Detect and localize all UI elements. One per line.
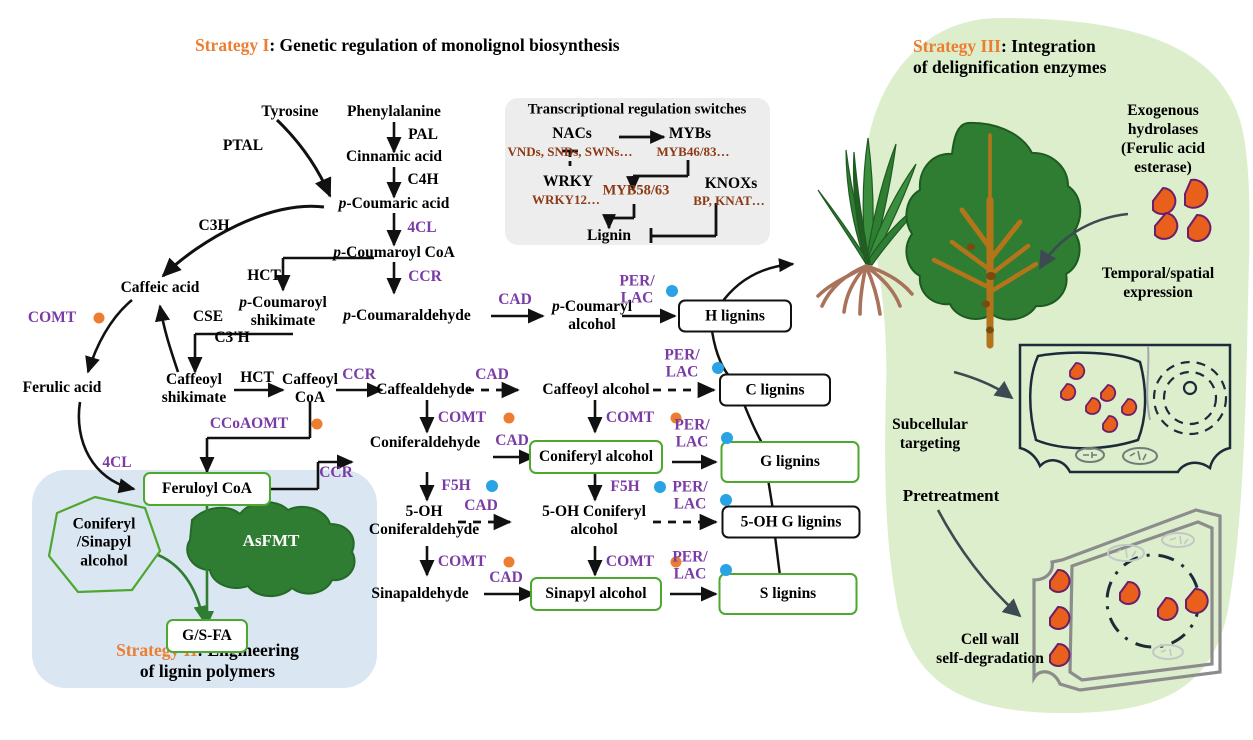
italic-p: p [239, 294, 247, 311]
metabolite-caffeoyl-coa: Caffeoyl CoA [282, 371, 338, 407]
tf-knoxs-members: BP, KNAT… [693, 194, 765, 208]
metabolite-5oh-coniferyl-alcohol-l2: alcohol [542, 521, 646, 539]
enzyme-per-lac-3: PER/ LAC [674, 417, 709, 450]
metabolite-sinapyl-alcohol-box: Sinapyl alcohol [530, 577, 662, 611]
metabolite-p-coumaroyl-shikimate: p-Coumaroyl shikimate [239, 294, 327, 330]
per-lac-3-line2: LAC [674, 434, 709, 451]
lignin-box-s: S lignins [719, 573, 858, 615]
metabolite-p-coumaric-acid-text: -Coumaric acid [346, 195, 449, 212]
metabolite-caffeic-acid: Caffeic acid [121, 280, 200, 296]
metabolite-5oh-coniferyl-alcohol-l1: 5-OH Coniferyl [542, 503, 646, 521]
enzyme-comt-left: COMT [28, 310, 76, 326]
per-lac-4-line2: LAC [672, 496, 707, 513]
per-lac-5-blue-dot [720, 564, 732, 576]
italic-p: p [339, 195, 347, 212]
per-lac-3-blue-dot [721, 432, 733, 444]
metabolite-caffeoyl-shikimate: Caffeoyl shikimate [162, 371, 227, 407]
strategy1-title: Strategy I: Genetic regulation of monoli… [195, 35, 620, 56]
enzyme-c4h: C4H [408, 172, 439, 188]
enzyme-ccoaomt: CCoAOMT [210, 416, 288, 432]
exogenous-l3: (Ferulic acid [1121, 140, 1205, 159]
temporal-l1: Temporal/spatial [1102, 265, 1214, 284]
enzyme-ccr-blue: CCR [319, 465, 353, 481]
enzyme-cad-top: CAD [498, 292, 532, 308]
italic-p: p [333, 244, 341, 261]
strategy3-title-rest: : Integration [1001, 36, 1096, 56]
enzyme-f5h-coniferaldehyde: F5H [441, 478, 470, 494]
pretreatment-label: Pretreatment [903, 487, 1000, 505]
per-lac-3-line1: PER/ [674, 417, 709, 434]
cellwall-l2: self-degradation [936, 650, 1044, 669]
metabolite-5oh-coniferyl-alcohol: 5-OH Coniferyl alcohol [542, 503, 646, 539]
metabolite-p-coumaryl-alcohol-l2: alcohol [552, 316, 632, 334]
enzyme-comt-caffeoylalcohol: COMT [606, 410, 654, 426]
metabolite-caffeoyl-shikimate-l2: shikimate [162, 389, 227, 407]
metabolite-coniferyl-sinapyl-l1: Coniferyl [73, 516, 136, 534]
subcellular-l2: targeting [892, 435, 968, 454]
tf-wrky-members: WRKY12… [532, 193, 600, 207]
metabolite-phenylalanine: Phenylalanine [347, 104, 441, 120]
strategy3-title-line2: of delignification enzymes [913, 57, 1106, 78]
exogenous-l2: hydrolases [1121, 121, 1205, 140]
enzyme-comt-caffealdehyde: COMT [438, 410, 486, 426]
enzyme-cad-coniferaldehyde: CAD [495, 433, 529, 449]
enzyme-hct-mid: HCT [240, 370, 274, 386]
enzyme-cad-sinapaldehyde: CAD [489, 570, 523, 586]
per-lac-1-line1: PER/ [619, 273, 654, 290]
enzyme-per-lac-5: PER/ LAC [672, 549, 707, 582]
tf-nacs-label: NACs [552, 126, 592, 142]
comt-c-orange-dot [504, 557, 515, 568]
strategy2-title-line2: of lignin polymers [65, 661, 350, 682]
enzyme-ptal: PTAL [223, 138, 263, 154]
subcellular-targeting-label: Subcellular targeting [892, 416, 968, 454]
metabolite-p-coumaraldehyde: p-Coumaraldehyde [343, 308, 470, 324]
per-lac-4-blue-dot [720, 494, 732, 506]
italic-p: p [552, 298, 560, 315]
enzyme-f5h-coniferylalcohol: F5H [610, 479, 639, 495]
per-lac-2-blue-dot [712, 362, 724, 374]
italic-p: p [343, 307, 351, 324]
tf-nacs-members: VNDs, SNDs, SWNs… [508, 145, 633, 159]
tf-myb5863-label: MYB58/63 [603, 183, 670, 198]
per-lac-5-line1: PER/ [672, 549, 707, 566]
metabolite-feruloyl-coa-box: Feruloyl CoA [143, 472, 271, 506]
cellwall-l1: Cell wall [936, 631, 1044, 650]
strategy3-title-prefix: Strategy III [913, 36, 1001, 56]
metabolite-5oh-coniferaldehyde-l2: Coniferaldehyde [369, 521, 479, 539]
metabolite-coniferyl-sinapyl-alcohol: Coniferyl /Sinapyl alcohol [73, 516, 136, 571]
metabolite-p-coumaraldehyde-text: -Coumaraldehyde [351, 307, 471, 324]
comt-left-orange-dot [94, 313, 105, 324]
metabolite-coniferyl-sinapyl-l3: alcohol [73, 552, 136, 570]
enzyme-per-lac-1: PER/ LAC [619, 273, 654, 306]
metabolite-caffeoyl-alcohol: Caffeoyl alcohol [542, 382, 649, 398]
metabolite-caffeoyl-coa-l1: Caffeoyl [282, 371, 338, 389]
tf-wrky-label: WRKY [543, 174, 593, 190]
lignin-box-g: G lignins [721, 441, 860, 483]
enzyme-cad-caffealdehyde: CAD [475, 367, 509, 383]
ccoaomt-orange-dot [312, 419, 323, 430]
exogenous-l1: Exogenous [1121, 102, 1205, 121]
metabolite-5oh-coniferaldehyde-l1: 5-OH [369, 503, 479, 521]
per-lac-2-line2: LAC [664, 364, 699, 381]
tf-lignin-label: Lignin [587, 228, 631, 244]
per-lac-5-line2: LAC [672, 566, 707, 583]
metabolite-coniferyl-sinapyl-l2: /Sinapyl [73, 534, 136, 552]
enzyme-comt-5oh-coniferylalcohol: COMT [606, 554, 654, 570]
metabolite-p-coumaric-acid: p-Coumaric acid [339, 196, 450, 212]
enzyme-per-lac-2: PER/ LAC [664, 347, 699, 380]
lignin-box-c: C lignins [719, 374, 831, 407]
metabolite-ferulic-acid: Ferulic acid [23, 380, 102, 396]
exogenous-l4: esterase) [1121, 159, 1205, 178]
strategy1-title-rest: : Genetic regulation of monolignol biosy… [269, 35, 619, 55]
metabolite-coniferyl-alcohol-box: Coniferyl alcohol [529, 440, 663, 474]
transcription-box-title: Transcriptional regulation switches [528, 102, 747, 117]
f5h-a-blue-dot [486, 480, 498, 492]
exogenous-hydrolases-label: Exogenous hydrolases (Ferulic acid ester… [1121, 102, 1205, 178]
lignin-box-h: H lignins [678, 300, 792, 333]
comt-a-orange-dot [504, 413, 515, 424]
tf-mybs-members: MYB46/83… [657, 145, 730, 159]
metabolite-p-coumaroyl-coa: p-Coumaroyl CoA [333, 245, 455, 261]
enzyme-c3ph: C3'H [214, 330, 249, 346]
per-lac-1-blue-dot [666, 285, 678, 297]
enzyme-comt-5oh-coniferaldehyde: COMT [438, 554, 486, 570]
enzyme-4cl-blue: 4CL [102, 455, 131, 471]
enzyme-ccr-top: CCR [408, 269, 442, 285]
metabolite-p-coumaroyl-shikimate-l1: -Coumaroyl [247, 294, 327, 311]
enzyme-cse: CSE [193, 309, 223, 325]
enzyme-pal: PAL [408, 127, 438, 143]
per-lac-2-line1: PER/ [664, 347, 699, 364]
temporal-l2: expression [1102, 284, 1214, 303]
metabolite-gs-fa-box: G/S-FA [166, 619, 248, 653]
metabolite-caffealdehyde: Caffealdehyde [376, 382, 472, 398]
tf-knoxs-label: KNOXs [705, 176, 758, 192]
figure-canvas: Transcriptional regulation switches NACs… [0, 0, 1253, 740]
per-lac-4-line1: PER/ [672, 479, 707, 496]
metabolite-caffeoyl-shikimate-l1: Caffeoyl [162, 371, 227, 389]
metabolite-tyrosine: Tyrosine [261, 104, 318, 120]
enzyme-per-lac-4: PER/ LAC [672, 479, 707, 512]
tf-mybs-label: MYBs [669, 126, 711, 142]
cellwall-self-degradation-label: Cell wall self-degradation [936, 631, 1044, 669]
metabolite-p-coumaroyl-coa-text: -Coumaroyl CoA [341, 244, 455, 261]
strategy1-title-prefix: Strategy I [195, 35, 269, 55]
temporal-spatial-expression-label: Temporal/spatial expression [1102, 265, 1214, 303]
metabolite-sinapaldehyde: Sinapaldehyde [371, 586, 468, 602]
metabolite-p-coumaroyl-shikimate-l2: shikimate [239, 312, 327, 330]
lignin-box-5oh-g: 5-OH G lignins [722, 506, 861, 539]
metabolite-5oh-coniferaldehyde: 5-OH Coniferaldehyde [369, 503, 479, 539]
enzyme-ccr-mid: CCR [342, 367, 376, 383]
metabolite-coniferaldehyde: Coniferaldehyde [370, 435, 480, 451]
per-lac-1-line2: LAC [619, 290, 654, 307]
subcellular-l1: Subcellular [892, 416, 968, 435]
enzyme-c3h: C3H [199, 218, 230, 234]
strategy3-title: Strategy III: Integration of delignifica… [913, 36, 1106, 79]
metabolite-caffeoyl-coa-l2: CoA [282, 389, 338, 407]
f5h-b-blue-dot [654, 481, 666, 493]
enzyme-cad-5oh: CAD [464, 498, 498, 514]
enzyme-4cl-top: 4CL [407, 220, 436, 236]
asfmt-label: AsFMT [243, 532, 300, 550]
enzyme-hct-top: HCT [247, 268, 281, 284]
metabolite-cinnamic-acid: Cinnamic acid [346, 149, 442, 165]
